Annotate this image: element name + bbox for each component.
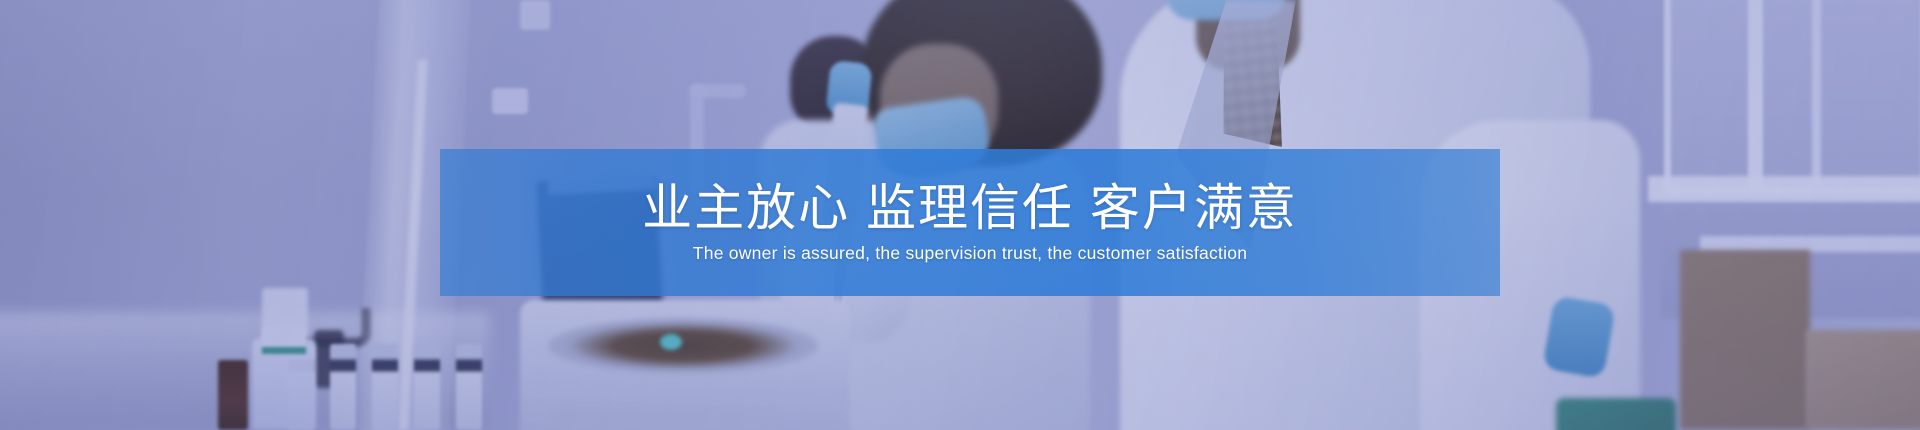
hero-banner: 业主放心 监理信任 客户满意 The owner is assured, the… (0, 0, 1920, 430)
headline-band-content: 业主放心 监理信任 客户满意 The owner is assured, the… (440, 149, 1500, 296)
page-title: 业主放心 监理信任 客户满意 (642, 182, 1298, 235)
page-subtitle: The owner is assured, the supervision tr… (693, 244, 1247, 263)
headline-band: 业主放心 监理信任 客户满意 The owner is assured, the… (440, 149, 1500, 296)
